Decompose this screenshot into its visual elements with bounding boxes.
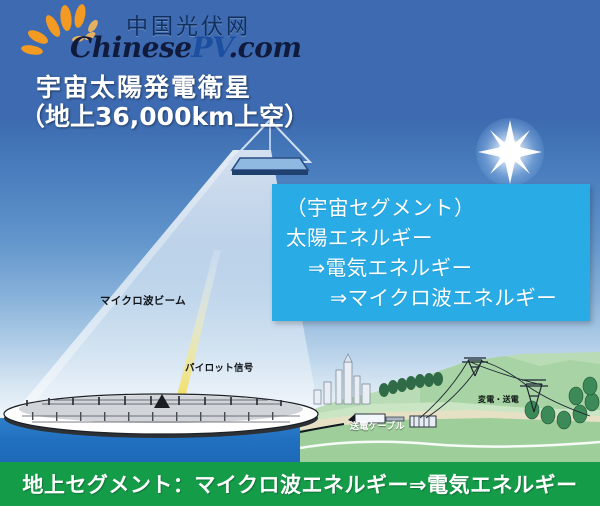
space-segment-line-2: 太陽エネルギー bbox=[286, 223, 590, 253]
logo-latin-com: .com bbox=[228, 31, 301, 64]
space-segment-line-1: （宇宙セグメント） bbox=[286, 193, 590, 223]
substation-label: 変電・送電 bbox=[478, 394, 519, 405]
rectenna-island bbox=[2, 392, 320, 444]
sun-core-icon bbox=[498, 140, 522, 164]
ground-segment-banner-text: 地上セグメント：マイクロ波エネルギー⇒電気エネルギー bbox=[22, 469, 577, 499]
pilot-signal-label: パイロット信号 bbox=[185, 360, 254, 374]
space-segment-line-4: ⇒マイクロ波エネルギー bbox=[286, 283, 590, 313]
ground-segment-banner: 地上セグメント：マイクロ波エネルギー⇒電気エネルギー bbox=[0, 462, 600, 506]
page-subtitle: （地上36,000km上空） bbox=[20, 97, 309, 133]
site-logo[interactable]: 中国光伏网 ChinesePV.com bbox=[18, 4, 288, 64]
space-segment-callout: （宇宙セグメント） 太陽エネルギー ⇒電気エネルギー ⇒マイクロ波エネルギー bbox=[272, 184, 590, 321]
transmission-cable-label: 送電ケーブル bbox=[350, 419, 405, 432]
logo-latin-text: ChinesePV.com bbox=[70, 31, 302, 64]
microwave-beam-label: マイクロ波ビーム bbox=[100, 293, 186, 308]
logo-latin-chinese: Chinese bbox=[70, 31, 192, 64]
space-segment-line-3: ⇒電気エネルギー bbox=[286, 253, 590, 283]
coastal-landscape bbox=[300, 352, 600, 464]
infographic-canvas: 中国光伏网 ChinesePV.com 宇宙太陽発電衛星 （地上36,000km… bbox=[0, 0, 600, 506]
sun bbox=[462, 112, 558, 192]
logo-latin-pv: PV bbox=[192, 31, 229, 64]
